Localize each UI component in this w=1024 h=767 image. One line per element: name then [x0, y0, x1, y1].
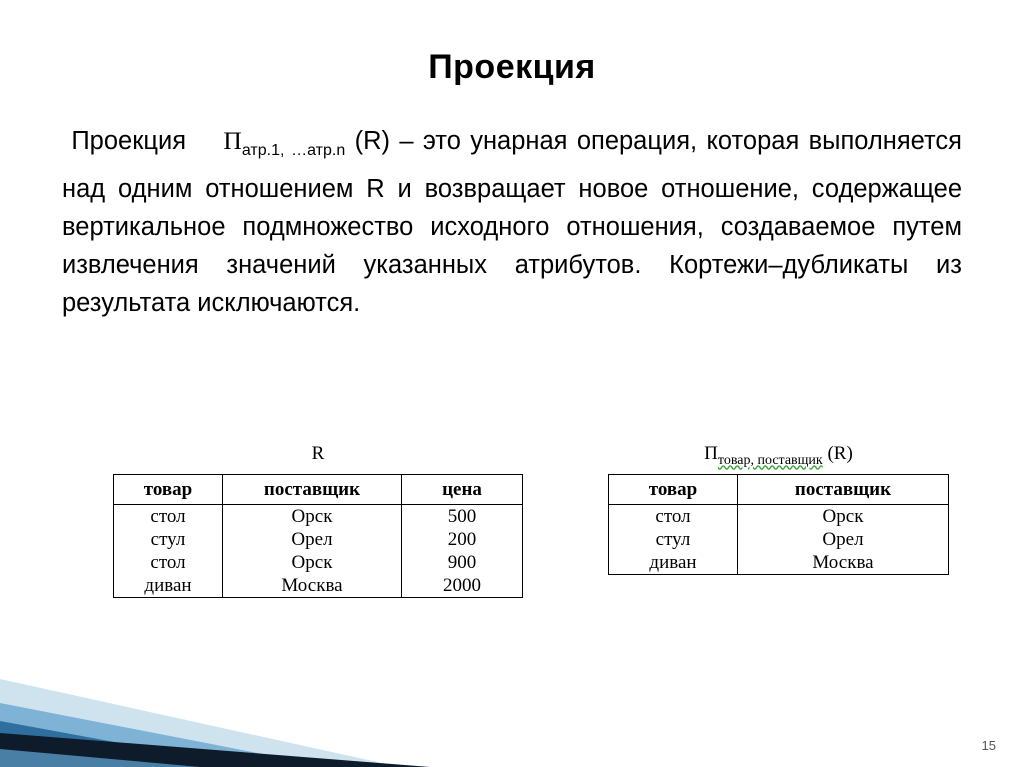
cell-postavshchik: Москва — [738, 551, 949, 575]
cell-postavshchik: Орск — [223, 505, 402, 529]
cell-postavshchik: Москва — [223, 574, 402, 598]
tables-area: R товар поставщик цена стол Орск 500 — [0, 440, 1024, 660]
corner-decoration-svg — [0, 637, 430, 767]
body-line-1: Проекция Патр.1, …атр.n (R) – это унарна… — [62, 127, 706, 155]
cell-tovar: диван — [609, 551, 738, 575]
table-row: стул Орел — [609, 528, 949, 551]
cell-tovar: диван — [114, 574, 223, 598]
body-text: Проекция Патр.1, …атр.n (R) – это унарна… — [62, 122, 962, 322]
table-row: стол Орск — [609, 505, 949, 529]
page-title: Проекция — [0, 48, 1024, 87]
cell-postavshchik: Орел — [223, 528, 402, 551]
table-row: диван Москва 2000 — [114, 574, 523, 598]
pi-caption-tail: (R) — [827, 443, 852, 464]
table-header-row: товар поставщик — [609, 475, 949, 505]
body-line-1-tail: (R) – это унарная операция, — [355, 127, 698, 155]
cell-postavshchik: Орск — [223, 551, 402, 574]
relation-r-caption: R — [113, 440, 523, 468]
relation-r-table: товар поставщик цена стол Орск 500 стул … — [113, 474, 523, 598]
cell-cena: 2000 — [402, 574, 523, 598]
projection-result-block: Птовар, поставщик (R) товар поставщик ст… — [608, 440, 949, 575]
table-header-row: товар поставщик цена — [114, 475, 523, 505]
pi-symbol: П — [223, 126, 241, 155]
pi-symbol-result: П — [704, 443, 718, 464]
table-row: стол Орск 900 — [114, 551, 523, 574]
cell-cena: 200 — [402, 528, 523, 551]
corner-decoration — [0, 637, 430, 767]
cell-tovar: стол — [609, 505, 738, 529]
projection-result-caption: Птовар, поставщик (R) — [608, 440, 949, 468]
column-header-tovar: товар — [609, 475, 738, 505]
column-header-postavshchik: поставщик — [738, 475, 949, 505]
table-row: стул Орел 200 — [114, 528, 523, 551]
column-header-cena: цена — [402, 475, 523, 505]
column-header-postavshchik: поставщик — [223, 475, 402, 505]
body-text-projection-word: Проекция — [71, 127, 186, 155]
relation-r-block: R товар поставщик цена стол Орск 500 — [113, 440, 523, 598]
cell-tovar: стол — [114, 551, 223, 574]
body-line-7: исключаются. — [197, 289, 360, 317]
pi-subscript: атр.1, …атр.n — [242, 142, 345, 159]
page-number: 15 — [982, 738, 996, 753]
cell-cena: 500 — [402, 505, 523, 529]
cell-tovar: стул — [609, 528, 738, 551]
body-line-3: возвращает новое отношение, содержащее — [425, 175, 962, 203]
slide: Проекция Проекция Патр.1, …атр.n (R) – э… — [0, 0, 1024, 767]
cell-tovar: стул — [114, 528, 223, 551]
cell-postavshchik: Орск — [738, 505, 949, 529]
body-line-4: вертикальное подмножество исходного отно… — [62, 213, 704, 241]
pi-subscript-result: товар, поставщик — [718, 453, 823, 468]
cell-postavshchik: Орел — [738, 528, 949, 551]
cell-cena: 900 — [402, 551, 523, 574]
column-header-tovar: товар — [114, 475, 223, 505]
cell-tovar: стол — [114, 505, 223, 529]
projection-result-table: товар поставщик стол Орск стул Орел дива… — [608, 474, 949, 575]
table-row: стол Орск 500 — [114, 505, 523, 529]
table-row: диван Москва — [609, 551, 949, 575]
